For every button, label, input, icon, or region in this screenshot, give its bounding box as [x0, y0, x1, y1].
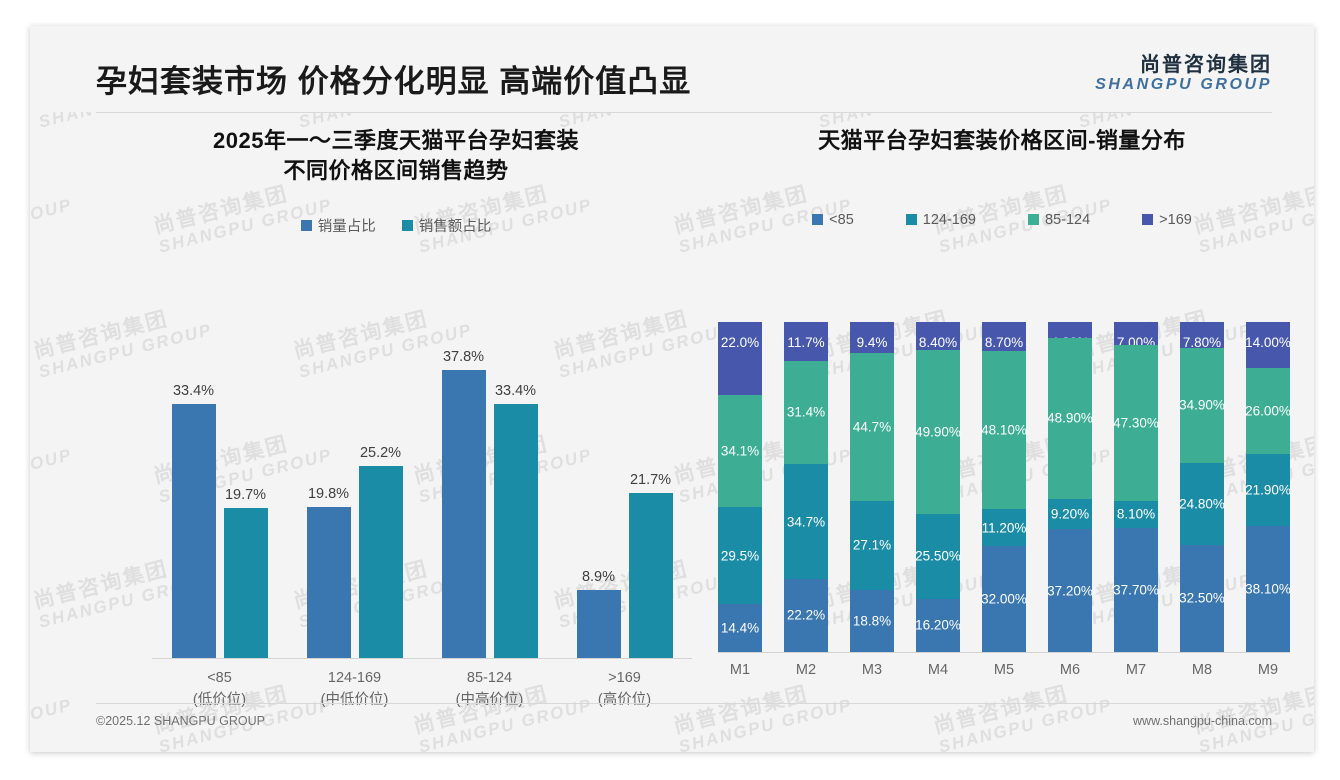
- stacked-segment[interactable]: 11.7%: [784, 322, 828, 361]
- bar-rect[interactable]: [442, 370, 486, 658]
- bar-column[interactable]: 21.7%: [629, 338, 673, 658]
- logo-text-en: SHANGPU GROUP: [1095, 76, 1272, 94]
- stacked-segment[interactable]: 24.80%: [1180, 463, 1224, 545]
- legend-swatch-icon: [1028, 214, 1039, 225]
- x-axis-tick-label: M9: [1246, 662, 1290, 678]
- x-tick-main: 85-124: [467, 670, 512, 686]
- watermark-tile: 尚普咨询集团SHANGPU GROUP: [30, 668, 74, 752]
- stacked-bar-column[interactable]: 8.70%48.10%11.20%32.00%: [982, 322, 1026, 652]
- bar-rect[interactable]: [629, 493, 673, 658]
- stacked-segment[interactable]: 22.0%: [718, 322, 762, 395]
- segment-value-label: 47.30%: [1113, 416, 1159, 431]
- bar-value-label: 25.2%: [360, 445, 401, 461]
- stacked-segment[interactable]: 38.10%: [1246, 526, 1290, 652]
- segment-value-label: 22.2%: [787, 608, 825, 623]
- footer-website: www.shangpu-china.com: [1133, 714, 1272, 728]
- footer-divider: [96, 703, 1272, 704]
- stacked-segment[interactable]: 4.80%: [1048, 322, 1092, 338]
- bar-group: 37.8%33.4%: [431, 338, 549, 658]
- stacked-segment[interactable]: 8.10%: [1114, 501, 1158, 528]
- x-axis-line-right: [718, 652, 1290, 653]
- stacked-segment[interactable]: 7.00%: [1114, 322, 1158, 345]
- stacked-segment[interactable]: 7.80%: [1180, 322, 1224, 348]
- x-axis-line-left: [152, 658, 692, 659]
- bar-value-label: 19.8%: [308, 486, 349, 502]
- bar-rect[interactable]: [307, 507, 351, 658]
- stacked-bar-column[interactable]: 7.00%47.30%8.10%37.70%: [1114, 322, 1158, 652]
- legend-item-left-0[interactable]: 销量占比: [301, 215, 376, 236]
- stacked-segment[interactable]: 34.1%: [718, 395, 762, 508]
- chart-legend-left: 销量占比销售额占比: [86, 215, 706, 236]
- legend-item-right-1[interactable]: 124-169: [906, 212, 976, 228]
- segment-value-label: 34.7%: [787, 514, 825, 529]
- bar-column[interactable]: 33.4%: [172, 338, 216, 658]
- stacked-segment[interactable]: 11.20%: [982, 509, 1026, 546]
- bar-value-label: 37.8%: [443, 349, 484, 365]
- segment-value-label: 27.1%: [853, 538, 891, 553]
- watermark-tile: 尚普咨询集团SHANGPU GROUP: [30, 168, 74, 258]
- bar-value-label: 33.4%: [495, 383, 536, 399]
- segment-value-label: 24.80%: [1179, 496, 1225, 511]
- stacked-segment[interactable]: 34.90%: [1180, 348, 1224, 463]
- stacked-segment[interactable]: 47.30%: [1114, 345, 1158, 501]
- segment-value-label: 25.50%: [915, 549, 961, 564]
- x-axis-tick-label: M1: [718, 662, 762, 678]
- stacked-segment[interactable]: 9.20%: [1048, 499, 1092, 529]
- stacked-bar-column[interactable]: 11.7%31.4%34.7%22.2%: [784, 322, 828, 652]
- stacked-segment[interactable]: 27.1%: [850, 501, 894, 590]
- x-tick-sub: (中低价位): [296, 690, 414, 712]
- bar-rect[interactable]: [494, 404, 538, 658]
- stacked-segment[interactable]: 31.4%: [784, 361, 828, 465]
- page-title: 孕妇套装市场 价格分化明显 高端价值凸显: [96, 56, 691, 101]
- legend-label: <85: [829, 212, 854, 228]
- segment-value-label: 14.4%: [721, 621, 759, 636]
- x-tick-sub: (中高价位): [431, 690, 549, 712]
- stacked-segment[interactable]: 48.10%: [982, 351, 1026, 510]
- chart-title-left-line1: 2025年一～三季度天猫平台孕妇套装: [86, 126, 706, 156]
- bar-column[interactable]: 25.2%: [359, 338, 403, 658]
- segment-value-label: 8.70%: [985, 335, 1023, 350]
- x-axis-tick-label: <85(低价位): [161, 668, 279, 712]
- grouped-bar-chart: 33.4%19.7%19.8%25.2%37.8%33.4%8.9%21.7% …: [86, 338, 706, 706]
- footer-copyright: ©2025.12 SHANGPU GROUP: [96, 714, 265, 728]
- x-tick-main: <85: [207, 670, 232, 686]
- segment-value-label: 37.70%: [1113, 582, 1159, 597]
- segment-value-label: 49.90%: [915, 425, 961, 440]
- stacked-bar-column[interactable]: 7.80%34.90%24.80%32.50%: [1180, 322, 1224, 652]
- stacked-segment[interactable]: 8.70%: [982, 322, 1026, 351]
- segment-value-label: 37.20%: [1047, 583, 1093, 598]
- x-axis-tick-label: M6: [1048, 662, 1092, 678]
- bar-rect[interactable]: [359, 466, 403, 658]
- header-divider: [96, 112, 1272, 113]
- x-axis-labels-left: <85(低价位)124-169(中低价位)85-124(中高价位)>169(高价…: [152, 668, 692, 712]
- x-tick-sub: (低价位): [161, 690, 279, 712]
- legend-swatch-icon: [812, 214, 823, 225]
- stacked-segment[interactable]: 9.4%: [850, 322, 894, 353]
- segment-value-label: 48.90%: [1047, 411, 1093, 426]
- bar-value-label: 19.7%: [225, 487, 266, 503]
- legend-label: >169: [1159, 212, 1192, 228]
- x-axis-tick-label: 124-169(中低价位): [296, 668, 414, 712]
- segment-value-label: 11.7%: [787, 335, 824, 350]
- legend-item-right-3[interactable]: >169: [1142, 212, 1192, 228]
- x-axis-tick-label: M7: [1114, 662, 1158, 678]
- x-axis-tick-label: 85-124(中高价位): [431, 668, 549, 712]
- chart-panel-right: 天猫平台孕妇套装价格区间-销量分布 <85124-16985-124>169 2…: [702, 126, 1302, 706]
- segment-value-label: 9.4%: [857, 335, 888, 350]
- stacked-bar-column[interactable]: 8.40%49.90%25.50%16.20%: [916, 322, 960, 652]
- legend-label: 124-169: [923, 212, 976, 228]
- bar-group: 33.4%19.7%: [161, 338, 279, 658]
- stacked-segment[interactable]: 32.00%: [982, 546, 1026, 652]
- stacked-segment[interactable]: 21.90%: [1246, 454, 1290, 526]
- bar-rect[interactable]: [224, 508, 268, 658]
- bar-value-label: 8.9%: [582, 569, 615, 585]
- chart-title-left-line2: 不同价格区间销售趋势: [86, 156, 706, 186]
- segment-value-label: 29.5%: [721, 548, 759, 563]
- company-logo: 尚普咨询集团 SHANGPU GROUP: [1095, 54, 1272, 94]
- x-tick-sub: (高价位): [566, 690, 684, 712]
- segment-value-label: 44.7%: [853, 419, 891, 434]
- x-axis-tick-label: >169(高价位): [566, 668, 684, 712]
- x-tick-main: >169: [608, 670, 641, 686]
- segment-value-label: 21.90%: [1245, 483, 1291, 498]
- legend-label: 销售额占比: [419, 215, 492, 236]
- stacked-segment[interactable]: 49.90%: [916, 350, 960, 515]
- segment-value-label: 31.4%: [787, 405, 825, 420]
- legend-swatch-icon: [1142, 214, 1153, 225]
- segment-value-label: 16.20%: [915, 618, 961, 633]
- bar-column[interactable]: 19.8%: [307, 338, 351, 658]
- stacked-bar-column[interactable]: 22.0%34.1%29.5%14.4%: [718, 322, 762, 652]
- segment-value-label: 32.50%: [1179, 591, 1225, 606]
- bar-column[interactable]: 19.7%: [224, 338, 268, 658]
- bar-rect[interactable]: [172, 404, 216, 658]
- bar-column[interactable]: 37.8%: [442, 338, 486, 658]
- bar-value-label: 33.4%: [173, 383, 214, 399]
- slide-footer: ©2025.12 SHANGPU GROUP www.shangpu-china…: [96, 714, 1272, 734]
- segment-value-label: 34.1%: [721, 443, 759, 458]
- x-axis-labels-right: M1M2M3M4M5M6M7M8M9: [718, 662, 1290, 678]
- legend-item-right-2[interactable]: 85-124: [1028, 212, 1090, 228]
- segment-value-label: 38.10%: [1245, 582, 1291, 597]
- x-axis-tick-label: M4: [916, 662, 960, 678]
- segment-value-label: 9.20%: [1051, 507, 1089, 522]
- x-axis-tick-label: M2: [784, 662, 828, 678]
- bar-column[interactable]: 8.9%: [577, 338, 621, 658]
- stacked-segment[interactable]: 22.2%: [784, 579, 828, 652]
- segment-value-label: 32.00%: [981, 592, 1027, 607]
- x-tick-main: 124-169: [328, 670, 381, 686]
- stacked-segment[interactable]: 32.50%: [1180, 545, 1224, 652]
- legend-swatch-icon: [906, 214, 917, 225]
- stacked-segment[interactable]: 8.40%: [916, 322, 960, 350]
- stacked-segment[interactable]: 44.7%: [850, 353, 894, 501]
- stacked-segment[interactable]: 37.70%: [1114, 528, 1158, 652]
- bar-group: 8.9%21.7%: [566, 338, 684, 658]
- legend-label: 销量占比: [318, 215, 376, 236]
- stacked-segment[interactable]: 26.00%: [1246, 368, 1290, 454]
- grouped-bar-plot-area: 33.4%19.7%19.8%25.2%37.8%33.4%8.9%21.7%: [152, 338, 692, 658]
- segment-value-label: 22.0%: [721, 335, 759, 350]
- slide-canvas: 尚普咨询集团SHANGPU GROUP尚普咨询集团SHANGPU GROUP尚普…: [30, 26, 1314, 752]
- slide-header: 孕妇套装市场 价格分化明显 高端价值凸显 尚普咨询集团 SHANGPU GROU…: [30, 26, 1314, 112]
- stacked-segment[interactable]: 48.90%: [1048, 338, 1092, 499]
- stacked-bar-chart: 22.0%34.1%29.5%14.4%11.7%31.4%34.7%22.2%…: [702, 322, 1302, 706]
- segment-value-label: 11.20%: [982, 520, 1027, 535]
- watermark-tile: 尚普咨询集团SHANGPU GROUP: [30, 418, 74, 508]
- chart-panel-left: 2025年一～三季度天猫平台孕妇套装 不同价格区间销售趋势 销量占比销售额占比 …: [86, 126, 706, 706]
- stacked-segment[interactable]: 34.7%: [784, 464, 828, 579]
- x-axis-tick-label: M8: [1180, 662, 1224, 678]
- x-axis-tick-label: M5: [982, 662, 1026, 678]
- stacked-segment[interactable]: 16.20%: [916, 599, 960, 652]
- segment-value-label: 34.90%: [1179, 398, 1225, 413]
- stacked-bar-column[interactable]: 9.4%44.7%27.1%18.8%: [850, 322, 894, 652]
- legend-item-right-0[interactable]: <85: [812, 212, 854, 228]
- segment-value-label: 26.00%: [1245, 404, 1291, 419]
- stacked-segment[interactable]: 29.5%: [718, 507, 762, 604]
- bar-rect[interactable]: [577, 590, 621, 658]
- bar-column[interactable]: 33.4%: [494, 338, 538, 658]
- legend-label: 85-124: [1045, 212, 1090, 228]
- stacked-segment[interactable]: 25.50%: [916, 514, 960, 598]
- x-axis-tick-label: M3: [850, 662, 894, 678]
- stacked-segment[interactable]: 14.00%: [1246, 322, 1290, 368]
- segment-value-label: 8.40%: [919, 335, 957, 350]
- chart-legend-right: <85124-16985-124>169: [702, 212, 1302, 228]
- logo-text-cn: 尚普咨询集团: [1095, 54, 1272, 76]
- bar-group: 19.8%25.2%: [296, 338, 414, 658]
- stacked-bar-column[interactable]: 4.80%48.90%9.20%37.20%: [1048, 322, 1092, 652]
- segment-value-label: 18.8%: [853, 613, 891, 628]
- segment-value-label: 8.10%: [1117, 507, 1155, 522]
- stacked-segment[interactable]: 37.20%: [1048, 529, 1092, 652]
- legend-swatch-icon: [402, 220, 413, 231]
- bar-value-label: 21.7%: [630, 472, 671, 488]
- stacked-bar-plot-area: 22.0%34.1%29.5%14.4%11.7%31.4%34.7%22.2%…: [718, 322, 1290, 652]
- chart-title-left: 2025年一～三季度天猫平台孕妇套装 不同价格区间销售趋势: [86, 126, 706, 185]
- stacked-segment[interactable]: 14.4%: [718, 604, 762, 652]
- segment-value-label: 14.00%: [1245, 335, 1291, 350]
- stacked-bar-column[interactable]: 14.00%26.00%21.90%38.10%: [1246, 322, 1290, 652]
- stacked-segment[interactable]: 18.8%: [850, 590, 894, 652]
- legend-swatch-icon: [301, 220, 312, 231]
- segment-value-label: 48.10%: [981, 423, 1027, 438]
- chart-title-right: 天猫平台孕妇套装价格区间-销量分布: [702, 126, 1302, 156]
- legend-item-left-1[interactable]: 销售额占比: [402, 215, 492, 236]
